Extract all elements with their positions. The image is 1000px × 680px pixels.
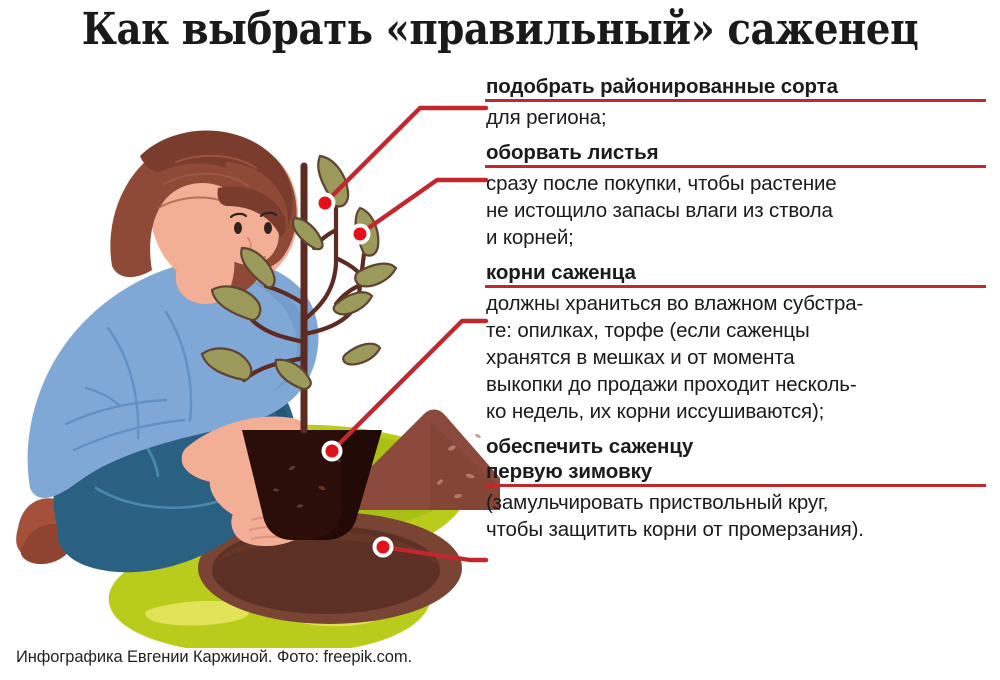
callout-winter-body-line-1: (замульчировать приствольный круг, [486, 489, 986, 516]
callout-varieties-body-line-1: для региона; [486, 104, 986, 131]
callout-roots-body-line-2: те: опилках, торфе (если саженцы [486, 317, 986, 344]
callout-text-column: подобрать районированные сорта для регио… [486, 74, 986, 543]
callout-winter-heading-line-1: обеспечить саженцу [486, 434, 986, 459]
callout-roots-body-line-3: хранятся в мешках и от момента [486, 344, 986, 371]
callout-roots-heading: корни саженца [486, 260, 986, 285]
callout-varieties: подобрать районированные сорта для регио… [486, 74, 986, 131]
illustration [0, 58, 500, 648]
callout-winter-body-line-2: чтобы защитить корни от промерзания). [486, 516, 986, 543]
callout-roots-body-line-4: выкопки до продажи проходит несколь- [486, 371, 986, 398]
callout-varieties-heading: подобрать районированные сорта [486, 74, 986, 99]
callout-winter: обеспечить саженцу первую зимовку (замул… [486, 434, 986, 543]
callout-roots: корни саженца должны храниться во влажно… [486, 260, 986, 425]
callout-leaves-heading: оборвать листья [486, 140, 986, 165]
callout-roots-body-line-5: ко недель, их корни иссушиваются); [486, 398, 986, 425]
page-title: Как выбрать «правильный» саженец [60, 2, 940, 58]
callout-roots-body-line-1: должны храниться во влажном субстра- [486, 290, 986, 317]
callout-leaves: оборвать листья сразу после покупки, что… [486, 140, 986, 251]
callout-leaves-body-line-1: сразу после покупки, чтобы растение [486, 170, 986, 197]
callout-leaves-body-line-2: не истощило запасы влаги из ствола [486, 197, 986, 224]
credit-line: Инфографика Евгении Каржиной. Фото: free… [16, 648, 412, 667]
callout-winter-heading-line-2: первую зимовку [486, 459, 986, 484]
callout-leaves-body-line-3: и корней; [486, 224, 986, 251]
